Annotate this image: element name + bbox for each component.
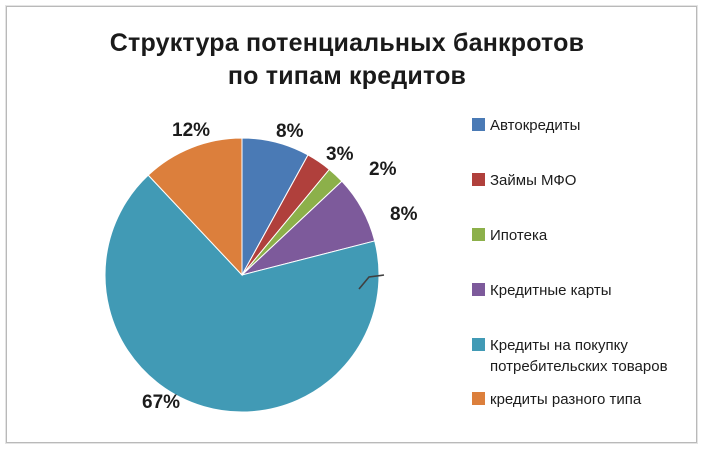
pie-label-zaymy-mfo: 3% [326, 144, 353, 166]
pie-chart-svg [24, 107, 454, 447]
legend-item-kreditnye-karty[interactable]: Кредитные карты [472, 280, 612, 301]
legend-swatch-icon-potrebitelskie-tovary [472, 338, 485, 351]
legend-item-avtokredity[interactable]: Автокредиты [472, 115, 580, 136]
pie-label-raznogo-tipa: 12% [172, 120, 210, 142]
legend-item-ipoteka[interactable]: Ипотека [472, 225, 547, 246]
legend-label-raznogo-tipa: кредиты разного типа [490, 389, 641, 410]
legend-label-potrebitelskie-tovary: Кредиты на покупку потребительских товар… [490, 335, 668, 378]
pie-plot-area: 8% 3% 2% 8% 67% 12% [24, 107, 454, 447]
pie-label-avtokredity: 8% [276, 121, 303, 143]
legend-swatch-icon-avtokredity [472, 118, 485, 131]
chart-title-line-1: Структура потенциальных банкротов [47, 27, 647, 60]
legend-label-zaymy-mfo: Займы МФО [490, 170, 576, 191]
pie-slices-group [105, 138, 379, 412]
legend-label-kreditnye-karty: Кредитные карты [490, 280, 612, 301]
chart-title: Структура потенциальных банкротов по тип… [47, 27, 647, 94]
legend-item-potrebitelskie-tovary[interactable]: Кредиты на покупку потребительских товар… [472, 335, 668, 378]
legend-swatch-icon-raznogo-tipa [472, 392, 485, 405]
pie-label-kreditnye-karty: 8% [390, 204, 417, 226]
legend-label-ipoteka: Ипотека [490, 225, 547, 246]
legend-label-avtokredity: Автокредиты [490, 115, 580, 136]
legend-swatch-icon-zaymy-mfo [472, 173, 485, 186]
legend-item-raznogo-tipa[interactable]: кредиты разного типа [472, 389, 641, 410]
legend-item-zaymy-mfo[interactable]: Займы МФО [472, 170, 576, 191]
pie-label-potrebitelskie: 67% [142, 392, 180, 414]
legend-swatch-icon-kreditnye-karty [472, 283, 485, 296]
chart-title-line-2: по типам кредитов [47, 60, 647, 93]
pie-label-ipoteka: 2% [369, 159, 396, 181]
legend-swatch-icon-ipoteka [472, 228, 485, 241]
chart-frame: Структура потенциальных банкротов по тип… [6, 6, 697, 443]
